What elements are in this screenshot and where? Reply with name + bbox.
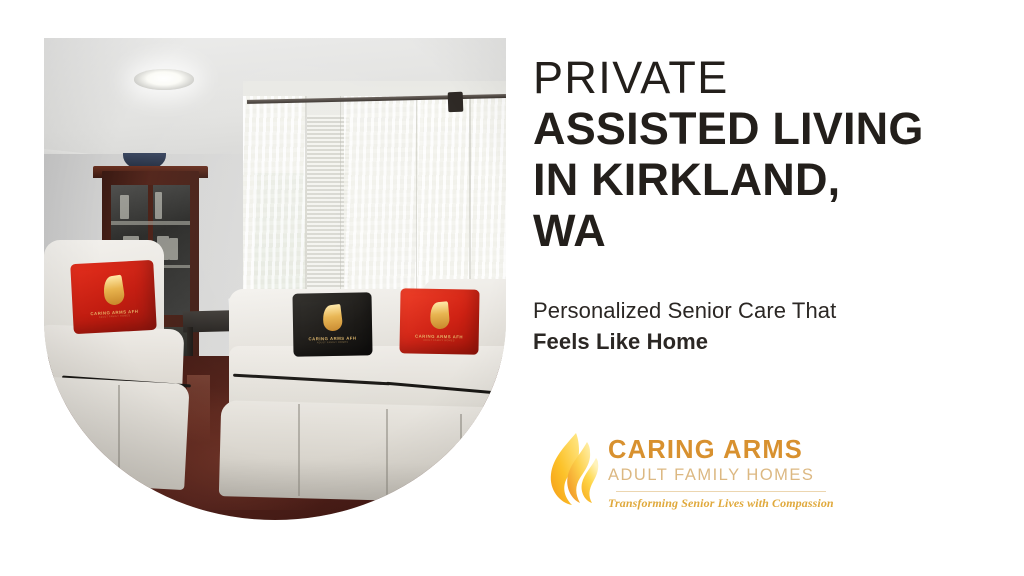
cushion-seam — [460, 414, 462, 491]
branded-pillow-black: CARING ARMS AFH ADULT FAMILY HOMES — [293, 293, 373, 357]
cushion-seam — [118, 385, 120, 481]
logo-title: CARING ARMS — [608, 438, 834, 464]
pillow-brand-subtext: ADULT FAMILY HOMES — [317, 341, 348, 345]
branded-pillow-red-left: CARING ARMS AFH ADULT FAMILY HOMES — [70, 260, 157, 334]
cabinet-glassware — [120, 195, 129, 219]
branded-pillow-red-right: CARING ARMS AFH ADULT FAMILY HOMES — [399, 288, 479, 354]
living-room-photo: CARING ARMS AFH ADULT FAMILY HOMES CARIN… — [44, 38, 506, 520]
flame-icon — [546, 431, 602, 515]
flame-icon — [322, 304, 344, 332]
subheading-line-1: Personalized Senior Care That — [533, 295, 985, 326]
headline-line-4: WA — [533, 208, 985, 253]
subheading: Personalized Senior Care That Feels Like… — [533, 295, 985, 357]
headline-line-3: IN KIRKLAND, — [533, 157, 985, 202]
banner-content: PRIVATE ASSISTED LIVING IN KIRKLAND, WA … — [533, 55, 985, 357]
subheading-line-2: Feels Like Home — [533, 326, 985, 357]
sofa-front-cushions — [218, 400, 506, 504]
photo-scene: CARING ARMS AFH ADULT FAMILY HOMES CARIN… — [44, 38, 506, 520]
cushion-seam — [298, 404, 300, 496]
marketing-banner: CARING ARMS AFH ADULT FAMILY HOMES CARIN… — [0, 0, 1024, 576]
logo-text-block: CARING ARMS ADULT FAMILY HOMES Transform… — [608, 434, 834, 511]
logo-divider — [616, 491, 826, 492]
flame-icon — [101, 275, 125, 307]
curtain-rod-bracket — [448, 92, 463, 113]
cushion-seam — [386, 409, 388, 496]
ceiling-light-icon — [134, 69, 194, 89]
page-title: PRIVATE ASSISTED LIVING IN KIRKLAND, WA — [533, 55, 985, 253]
cabinet-glassware — [155, 192, 162, 219]
headline-line-1: PRIVATE — [533, 55, 985, 100]
headline-line-2: ASSISTED LIVING — [533, 106, 985, 151]
logo-tagline: Transforming Senior Lives with Compassio… — [608, 496, 834, 511]
brand-logo[interactable]: CARING ARMS ADULT FAMILY HOMES Transform… — [546, 425, 796, 520]
logo-subtitle: ADULT FAMILY HOMES — [608, 465, 834, 486]
cabinet-glassware — [169, 238, 178, 260]
pillow-brand-subtext: ADULT FAMILY HOMES — [423, 338, 454, 342]
flame-icon — [429, 300, 450, 329]
pillow-brand-subtext: ADULT FAMILY HOMES — [99, 314, 131, 319]
cabinet-shelf — [111, 221, 190, 224]
